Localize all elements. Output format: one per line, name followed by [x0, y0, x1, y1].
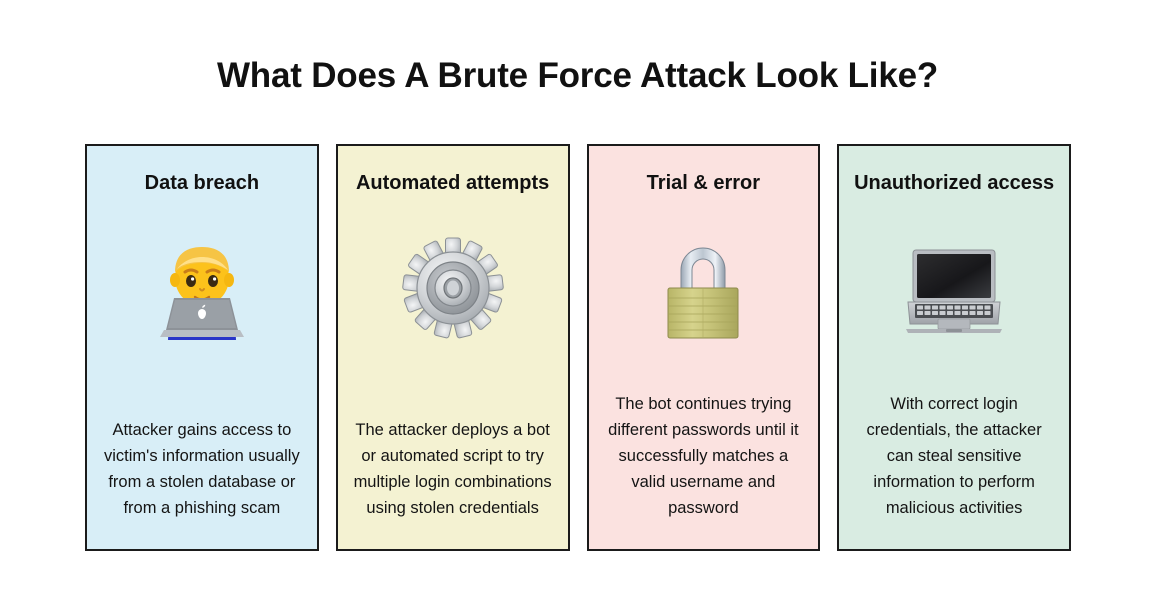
gear-icon — [401, 236, 505, 340]
card-body: The attacker deploys a bot or automated … — [350, 417, 556, 521]
laptop-icon — [902, 236, 1006, 340]
card-title: Unauthorized access — [854, 170, 1054, 222]
card-title: Automated attempts — [356, 170, 549, 222]
card-title: Trial & error — [647, 170, 760, 222]
infographic-page: What Does A Brute Force Attack Look Like… — [0, 0, 1155, 612]
card-unauthorized-access: Unauthorized access — [837, 144, 1071, 551]
page-title: What Does A Brute Force Attack Look Like… — [0, 56, 1155, 96]
card-body: With correct login credentials, the atta… — [851, 391, 1057, 521]
card-body: The bot continues trying different passw… — [601, 391, 807, 521]
card-trial-and-error: Trial & error — [587, 144, 821, 551]
card-automated-attempts: Automated attempts — [336, 144, 570, 551]
card-body: Attacker gains access to victim's inform… — [99, 417, 305, 521]
card-data-breach: Data breach — [85, 144, 319, 551]
cards-row: Data breach — [85, 144, 1071, 551]
padlock-icon — [651, 236, 755, 340]
card-title: Data breach — [145, 170, 260, 222]
man-technologist-icon — [150, 236, 254, 340]
